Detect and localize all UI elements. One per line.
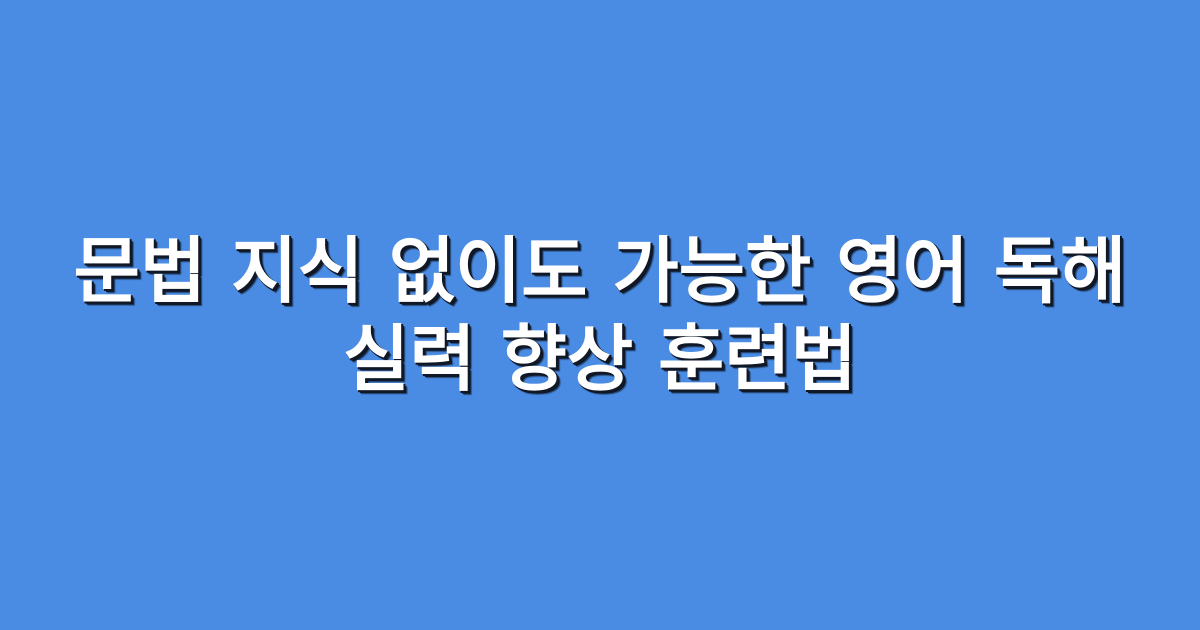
og-card-canvas: 문법 지식 없이도 가능한 영어 독해 실력 향상 훈련법 [0,0,1200,630]
card-title: 문법 지식 없이도 가능한 영어 독해 실력 향상 훈련법 [0,227,1200,403]
